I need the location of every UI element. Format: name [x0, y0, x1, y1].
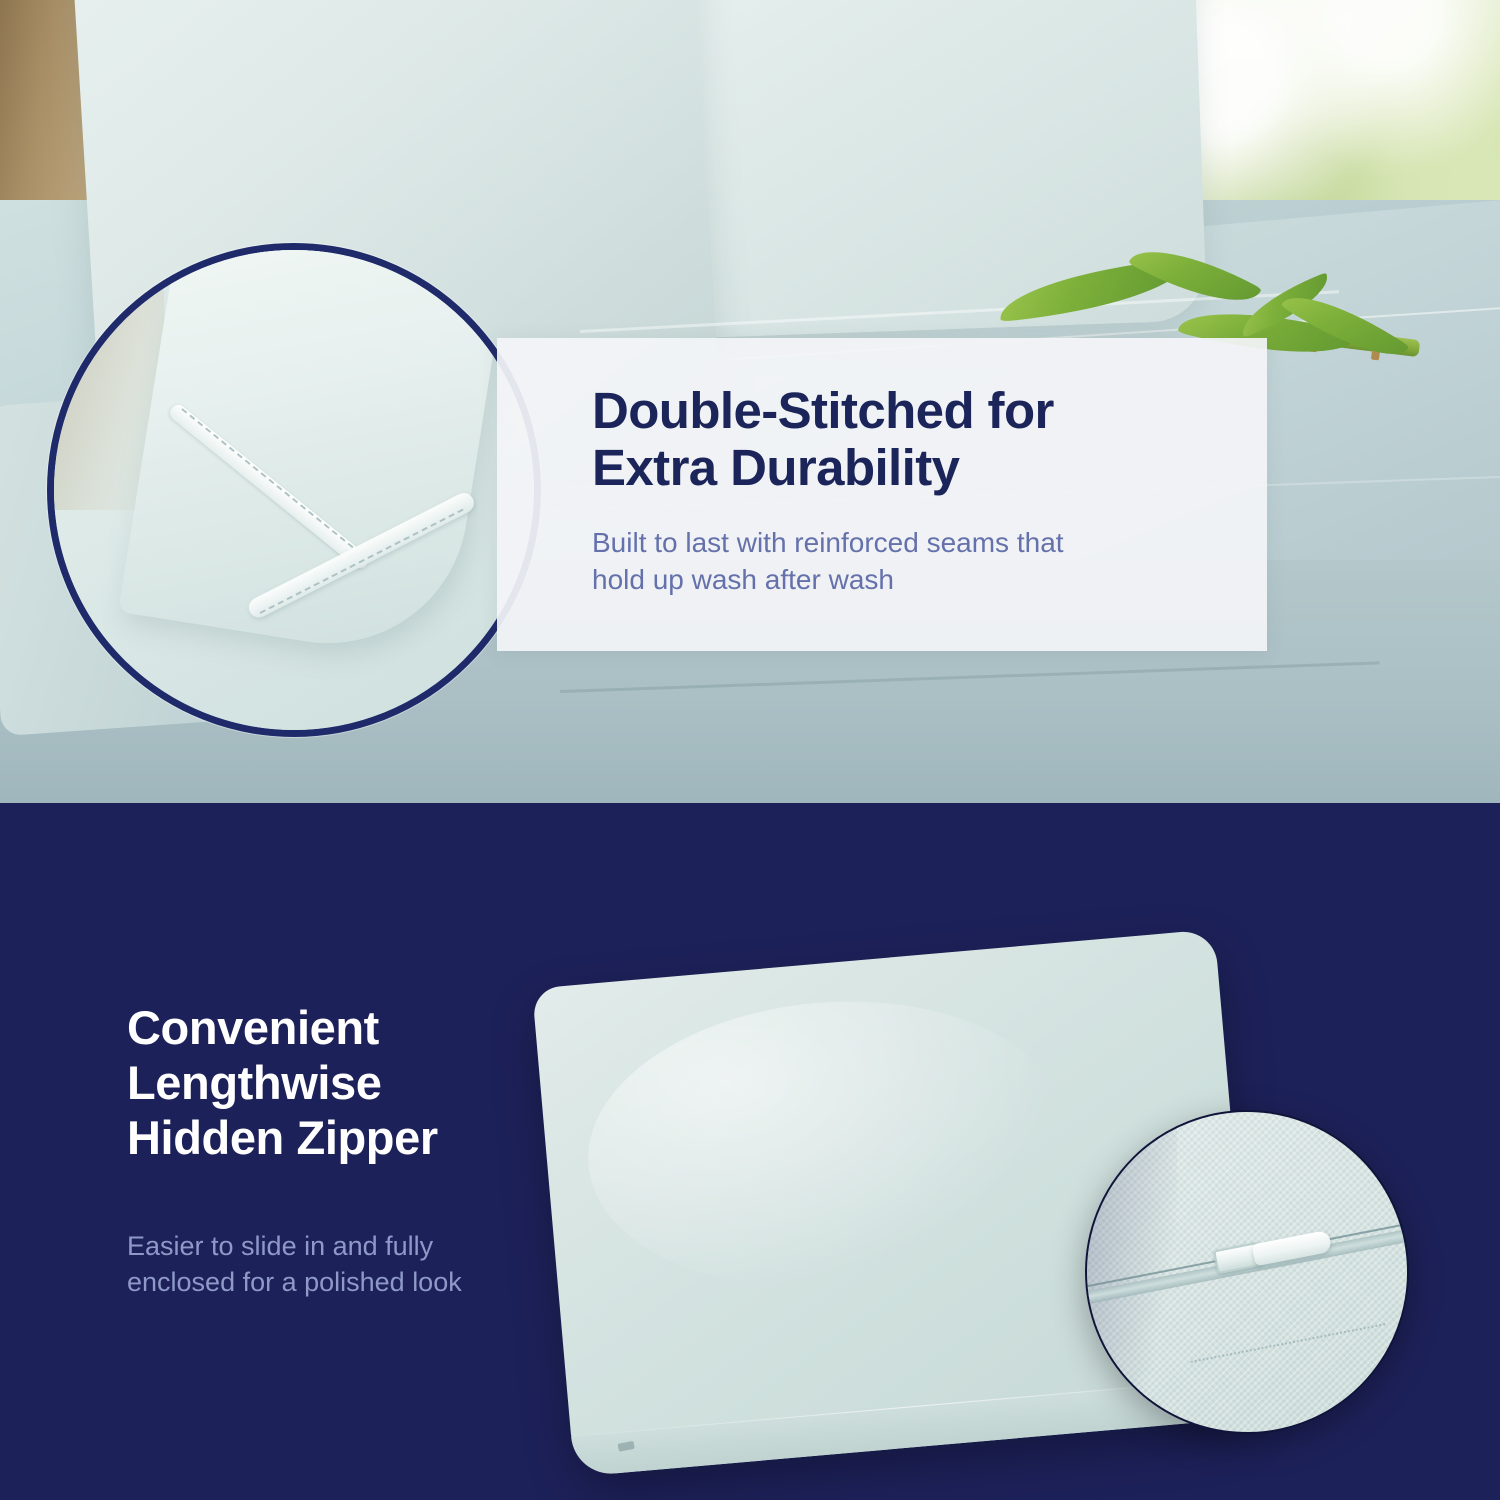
bottom-text-block: Convenient Lengthwise Hidden Zipper Easi…	[127, 1001, 597, 1328]
bottom-subcopy: Easier to slide in and fully enclosed fo…	[127, 1228, 597, 1301]
pillow-highlight	[576, 982, 1078, 1307]
top-panel-bedroom-photo: Double-Stitched for Extra Durability Bui…	[0, 0, 1500, 803]
top-headline: Double-Stitched for Extra Durability	[592, 382, 1267, 496]
bottom-headline: Convenient Lengthwise Hidden Zipper	[127, 1001, 597, 1166]
feature-graphic: Double-Stitched for Extra Durability Bui…	[0, 0, 1500, 1500]
top-subcopy: Built to last with reinforced seams that…	[592, 524, 1232, 598]
top-text-card: Double-Stitched for Extra Durability Bui…	[497, 338, 1267, 651]
stitched-corner-detail-circle	[47, 243, 541, 737]
bottom-panel-navy: Convenient Lengthwise Hidden Zipper Easi…	[0, 803, 1500, 1500]
hidden-zipper-detail-circle	[1085, 1110, 1409, 1434]
